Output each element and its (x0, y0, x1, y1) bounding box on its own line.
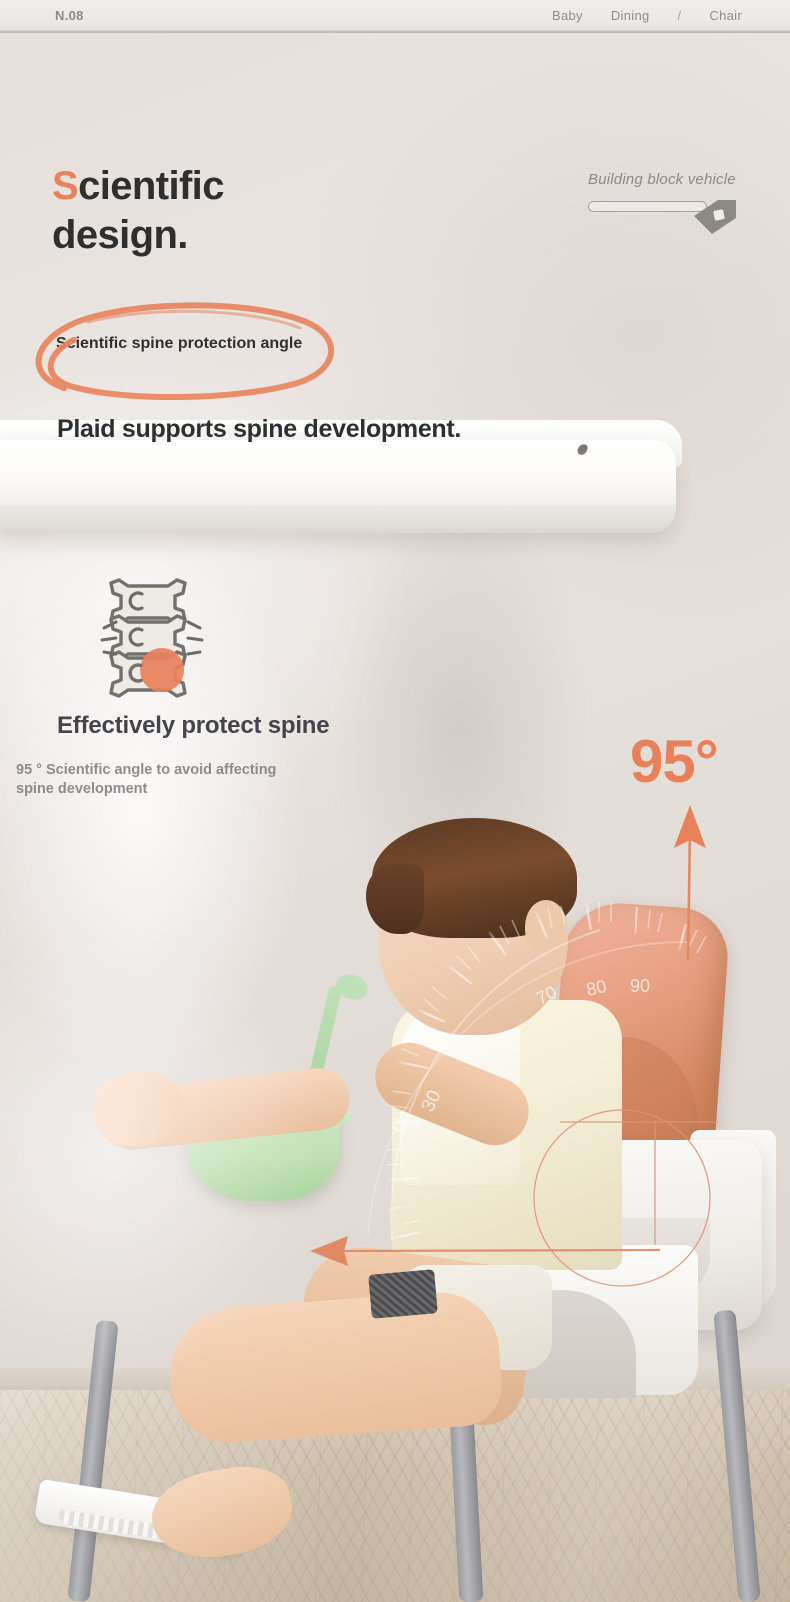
breadcrumb-item-dining[interactable]: Dining (611, 8, 650, 23)
top-bar: N.08 Baby Dining / Chair (0, 0, 790, 33)
chair-harness-strap (368, 1269, 438, 1319)
headline-rest: cientific (78, 164, 224, 208)
angle-value: 95° (630, 732, 718, 792)
baby-ear (525, 900, 567, 954)
sub-headline: Plaid supports spine development. (57, 415, 461, 444)
feature-description: 95 ° Scientific angle to avoid affecting… (16, 761, 316, 799)
breadcrumb-separator: / (678, 8, 682, 23)
tray-edge (0, 505, 676, 533)
product-marketing-page: N.08 Baby Dining / Chair (0, 0, 790, 1602)
page-number: N.08 (55, 8, 84, 23)
headline-line-two: design. (52, 213, 188, 257)
circled-callout-label: Scientific spine protection angle (56, 334, 306, 354)
tag-note: Building block vehicle (588, 170, 748, 218)
circled-callout: Scientific spine protection angle (36, 310, 336, 392)
page-title: Scientific design. (52, 162, 224, 260)
tag-note-icon-slot (714, 194, 748, 218)
baby-leg-front (166, 1289, 505, 1447)
breadcrumb: Baby Dining / Chair (552, 8, 742, 23)
feature-title: Effectively protect spine (57, 712, 329, 740)
tag-note-pill (588, 201, 707, 212)
breadcrumb-item-chair[interactable]: Chair (709, 8, 742, 23)
breadcrumb-item-baby[interactable]: Baby (552, 8, 583, 23)
headline-accent-letter: S (52, 164, 78, 208)
tag-note-label: Building block vehicle (588, 170, 748, 190)
tag-note-row (588, 194, 748, 218)
